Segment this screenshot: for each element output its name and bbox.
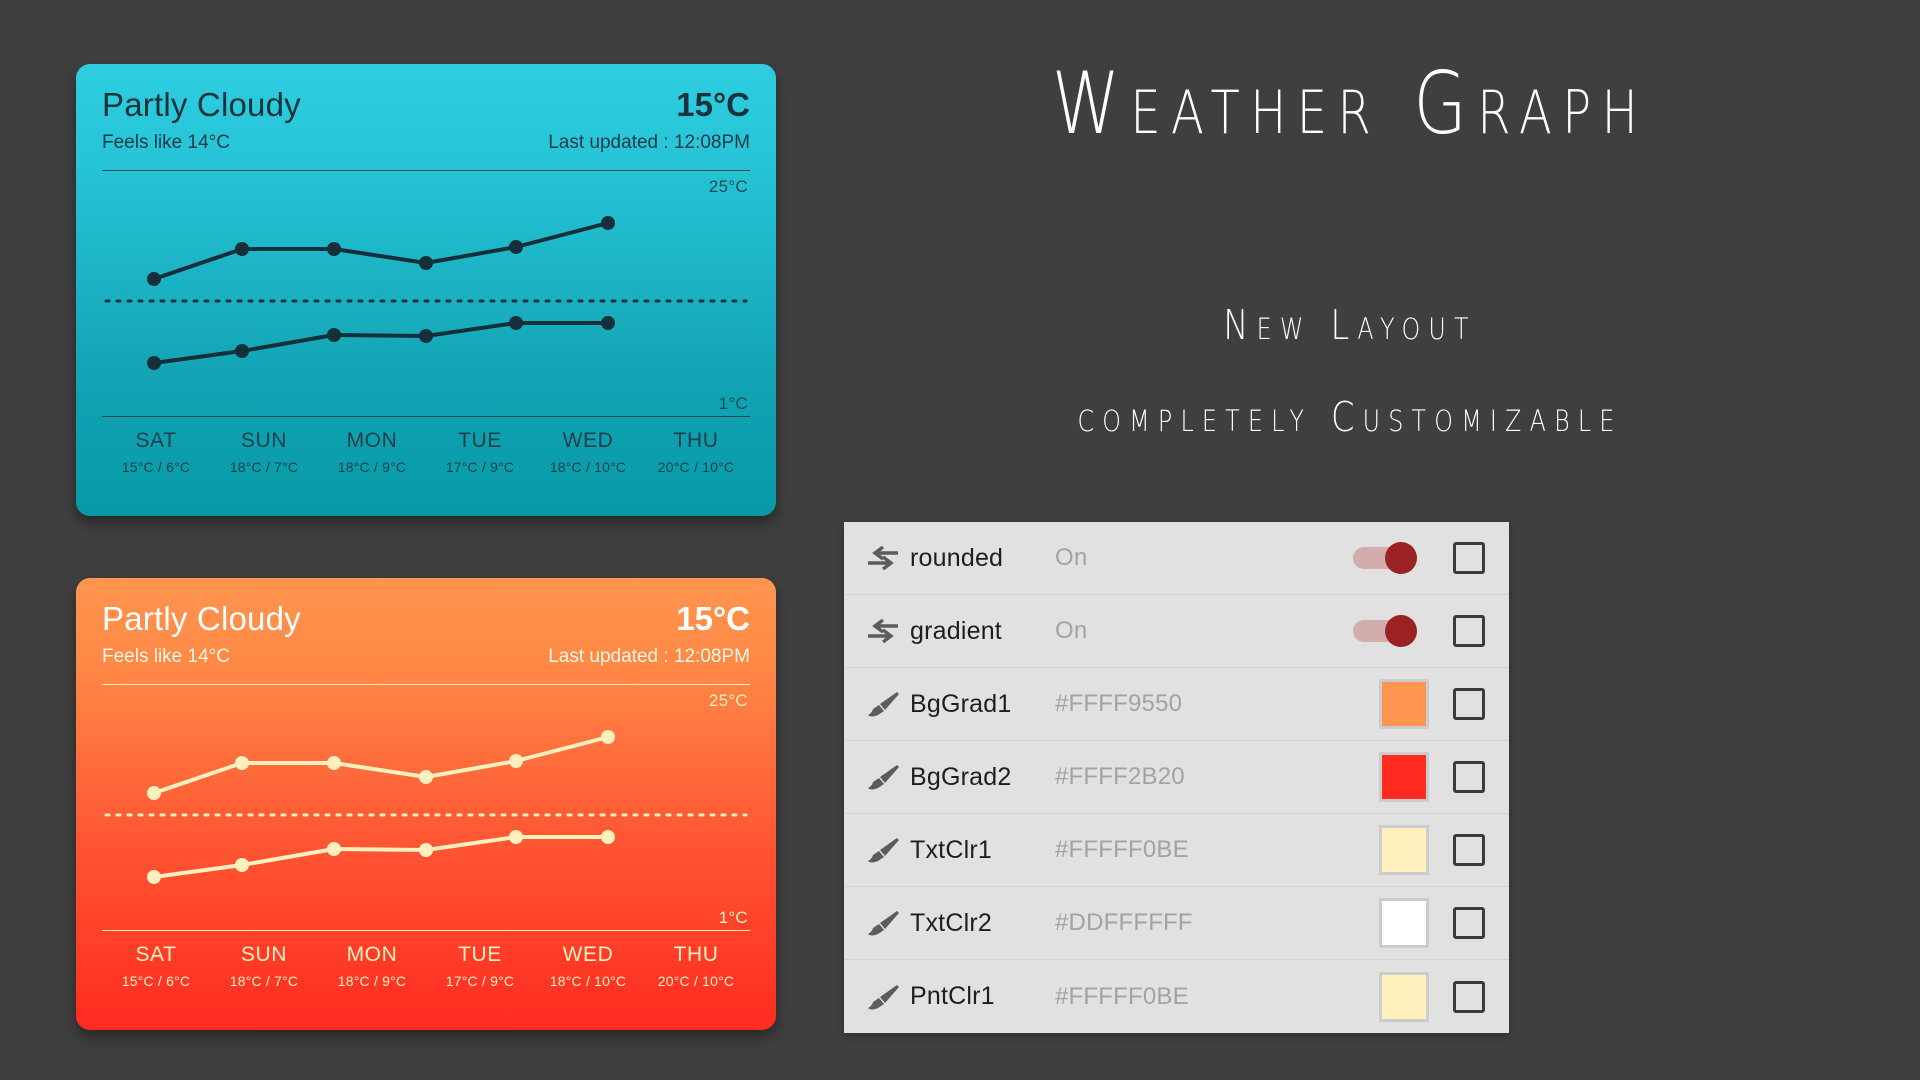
settings-row-pntclr1[interactable]: PntClr1 #FFFFF0BE — [844, 960, 1509, 1033]
color-swatch-bggrad2[interactable] — [1379, 752, 1429, 802]
widget-header: Partly Cloudy Feels like 14°C 15°C Last … — [102, 600, 750, 672]
last-updated-text: Last updated : 12:08PM — [548, 642, 750, 672]
axis-label-min: 1°C — [719, 908, 748, 928]
toggle-switch-gradient[interactable] — [1353, 616, 1429, 646]
day-name: SAT — [102, 941, 210, 969]
low-temp-line — [154, 837, 608, 877]
axis-label-max: 25°C — [709, 177, 748, 197]
lock-checkbox-rounded[interactable] — [1453, 542, 1485, 574]
condition-name: Partly Cloudy — [102, 600, 301, 638]
axis-label-min: 1°C — [719, 394, 748, 414]
toggle-knob[interactable] — [1385, 542, 1417, 574]
promo-column: Weather Graph New Layout completely Cust… — [780, 0, 1920, 1080]
high-temp-line — [154, 223, 608, 279]
last-updated-text: Last updated : 12:08PM — [548, 128, 750, 158]
chart-svg — [102, 687, 750, 930]
chart-svg — [102, 173, 750, 416]
lock-checkbox-bggrad1[interactable] — [1453, 688, 1485, 720]
setting-control — [1379, 825, 1509, 875]
forecast-days-row: SAT 15°C / 6°C SUN 18°C / 7°C MON 18°C /… — [102, 427, 750, 479]
paintbrush-icon — [866, 763, 910, 791]
setting-control — [1379, 679, 1509, 729]
day-temps: 18°C / 9°C — [318, 455, 426, 479]
day-name: SUN — [210, 427, 318, 455]
current-temperature: 15°C — [676, 600, 750, 638]
page-title: Weather Graph — [894, 56, 1806, 152]
setting-control — [1379, 898, 1509, 948]
setting-control — [1353, 615, 1509, 647]
settings-row-txtclr2[interactable]: TxtClr2 #DDFFFFFF — [844, 887, 1509, 960]
forecast-days-row: SAT 15°C / 6°C SUN 18°C / 7°C MON 18°C /… — [102, 941, 750, 993]
day-name: TUE — [426, 941, 534, 969]
swap-arrows-glyph — [866, 546, 900, 570]
forecast-day: SUN 18°C / 7°C — [210, 427, 318, 479]
setting-label: PntClr1 — [910, 982, 1045, 1011]
condition-name: Partly Cloudy — [102, 86, 301, 124]
axis-label-max: 25°C — [709, 691, 748, 711]
setting-value: #FFFFF0BE — [1055, 983, 1379, 1011]
setting-value: #FFFF9550 — [1055, 690, 1379, 718]
day-temps: 18°C / 10°C — [534, 969, 642, 993]
setting-label: rounded — [910, 544, 1045, 573]
lock-checkbox-txtclr1[interactable] — [1453, 834, 1485, 866]
day-temps: 15°C / 6°C — [102, 969, 210, 993]
day-temps: 17°C / 9°C — [426, 969, 534, 993]
day-temps: 20°C / 10°C — [642, 969, 750, 993]
forecast-day: MON 18°C / 9°C — [318, 427, 426, 479]
day-name: TUE — [426, 427, 534, 455]
temperature-chart: 25°C 1°C — [102, 173, 750, 416]
forecast-day: TUE 17°C / 9°C — [426, 941, 534, 993]
swap-arrows-icon — [866, 546, 910, 570]
day-temps: 18°C / 7°C — [210, 455, 318, 479]
forecast-day: WED 18°C / 10°C — [534, 941, 642, 993]
paintbrush-icon — [866, 690, 910, 718]
high-temp-points — [147, 216, 615, 286]
setting-control — [1379, 752, 1509, 802]
feels-like-text: Feels like 14°C — [102, 642, 301, 672]
setting-label: BgGrad1 — [910, 690, 1045, 719]
swap-arrows-icon — [866, 619, 910, 643]
forecast-day: SUN 18°C / 7°C — [210, 941, 318, 993]
setting-value: #DDFFFFFF — [1055, 909, 1379, 937]
setting-label: BgGrad2 — [910, 763, 1045, 792]
settings-row-bggrad1[interactable]: BgGrad1 #FFFF9550 — [844, 668, 1509, 741]
paintbrush-icon — [866, 836, 910, 864]
day-name: WED — [534, 427, 642, 455]
day-name: MON — [318, 941, 426, 969]
day-temps: 18°C / 7°C — [210, 969, 318, 993]
feels-like-text: Feels like 14°C — [102, 128, 301, 158]
weather-widget-card-teal[interactable]: Partly Cloudy Feels like 14°C 15°C Last … — [76, 64, 776, 516]
swap-arrows-glyph — [866, 619, 900, 643]
day-temps: 18°C / 10°C — [534, 455, 642, 479]
paintbrush-glyph — [866, 983, 900, 1011]
high-temp-points — [147, 730, 615, 800]
paintbrush-glyph — [866, 763, 900, 791]
day-name: SAT — [102, 427, 210, 455]
toggle-knob[interactable] — [1385, 615, 1417, 647]
lock-checkbox-txtclr2[interactable] — [1453, 907, 1485, 939]
forecast-day: THU 20°C / 10°C — [642, 427, 750, 479]
paintbrush-icon — [866, 909, 910, 937]
day-name: THU — [642, 941, 750, 969]
temperature-block: 15°C Last updated : 12:08PM — [548, 86, 750, 158]
current-temperature: 15°C — [676, 86, 750, 124]
color-swatch-pntclr1[interactable] — [1379, 972, 1429, 1022]
setting-value: #FFFF2B20 — [1055, 763, 1379, 791]
subtitle-new-layout: New Layout — [883, 300, 1818, 350]
header-divider — [102, 170, 750, 171]
setting-label: TxtClr1 — [910, 836, 1045, 865]
day-temps: 20°C / 10°C — [642, 455, 750, 479]
temperature-chart: 25°C 1°C — [102, 687, 750, 930]
header-divider — [102, 684, 750, 685]
settings-row-rounded[interactable]: rounded On — [844, 522, 1509, 595]
chart-baseline — [102, 930, 750, 931]
subtitle-customizable: completely Customizable — [883, 392, 1818, 442]
setting-control — [1353, 542, 1509, 574]
settings-row-gradient[interactable]: gradient On — [844, 595, 1509, 668]
day-temps: 17°C / 9°C — [426, 455, 534, 479]
condition-block: Partly Cloudy Feels like 14°C — [102, 600, 301, 672]
temperature-block: 15°C Last updated : 12:08PM — [548, 600, 750, 672]
day-temps: 18°C / 9°C — [318, 969, 426, 993]
forecast-day: TUE 17°C / 9°C — [426, 427, 534, 479]
forecast-day: THU 20°C / 10°C — [642, 941, 750, 993]
day-temps: 15°C / 6°C — [102, 455, 210, 479]
widget-header: Partly Cloudy Feels like 14°C 15°C Last … — [102, 86, 750, 158]
forecast-day: MON 18°C / 9°C — [318, 941, 426, 993]
color-swatch-txtclr1[interactable] — [1379, 825, 1429, 875]
chart-baseline — [102, 416, 750, 417]
day-name: THU — [642, 427, 750, 455]
lock-checkbox-gradient[interactable] — [1453, 615, 1485, 647]
setting-control — [1379, 972, 1509, 1022]
settings-row-txtclr1[interactable]: TxtClr1 #FFFFF0BE — [844, 814, 1509, 887]
day-name: WED — [534, 941, 642, 969]
setting-value: #FFFFF0BE — [1055, 836, 1379, 864]
paintbrush-glyph — [866, 909, 900, 937]
widget-previews: Partly Cloudy Feels like 14°C 15°C Last … — [76, 64, 776, 1030]
high-temp-line — [154, 737, 608, 793]
forecast-day: WED 18°C / 10°C — [534, 427, 642, 479]
settings-panel: rounded On gradient On — [844, 522, 1509, 1033]
paintbrush-icon — [866, 983, 910, 1011]
forecast-day: SAT 15°C / 6°C — [102, 427, 210, 479]
setting-label: gradient — [910, 617, 1045, 646]
condition-block: Partly Cloudy Feels like 14°C — [102, 86, 301, 158]
day-name: MON — [318, 427, 426, 455]
lock-checkbox-pntclr1[interactable] — [1453, 981, 1485, 1013]
paintbrush-glyph — [866, 690, 900, 718]
paintbrush-glyph — [866, 836, 900, 864]
setting-label: TxtClr2 — [910, 909, 1045, 938]
settings-row-bggrad2[interactable]: BgGrad2 #FFFF2B20 — [844, 741, 1509, 814]
day-name: SUN — [210, 941, 318, 969]
lock-checkbox-bggrad2[interactable] — [1453, 761, 1485, 793]
toggle-switch-rounded[interactable] — [1353, 543, 1429, 573]
forecast-day: SAT 15°C / 6°C — [102, 941, 210, 993]
setting-value: On — [1055, 617, 1353, 645]
color-swatch-txtclr2[interactable] — [1379, 898, 1429, 948]
color-swatch-bggrad1[interactable] — [1379, 679, 1429, 729]
weather-widget-card-orange[interactable]: Partly Cloudy Feels like 14°C 15°C Last … — [76, 578, 776, 1030]
low-temp-line — [154, 323, 608, 363]
setting-value: On — [1055, 544, 1353, 572]
